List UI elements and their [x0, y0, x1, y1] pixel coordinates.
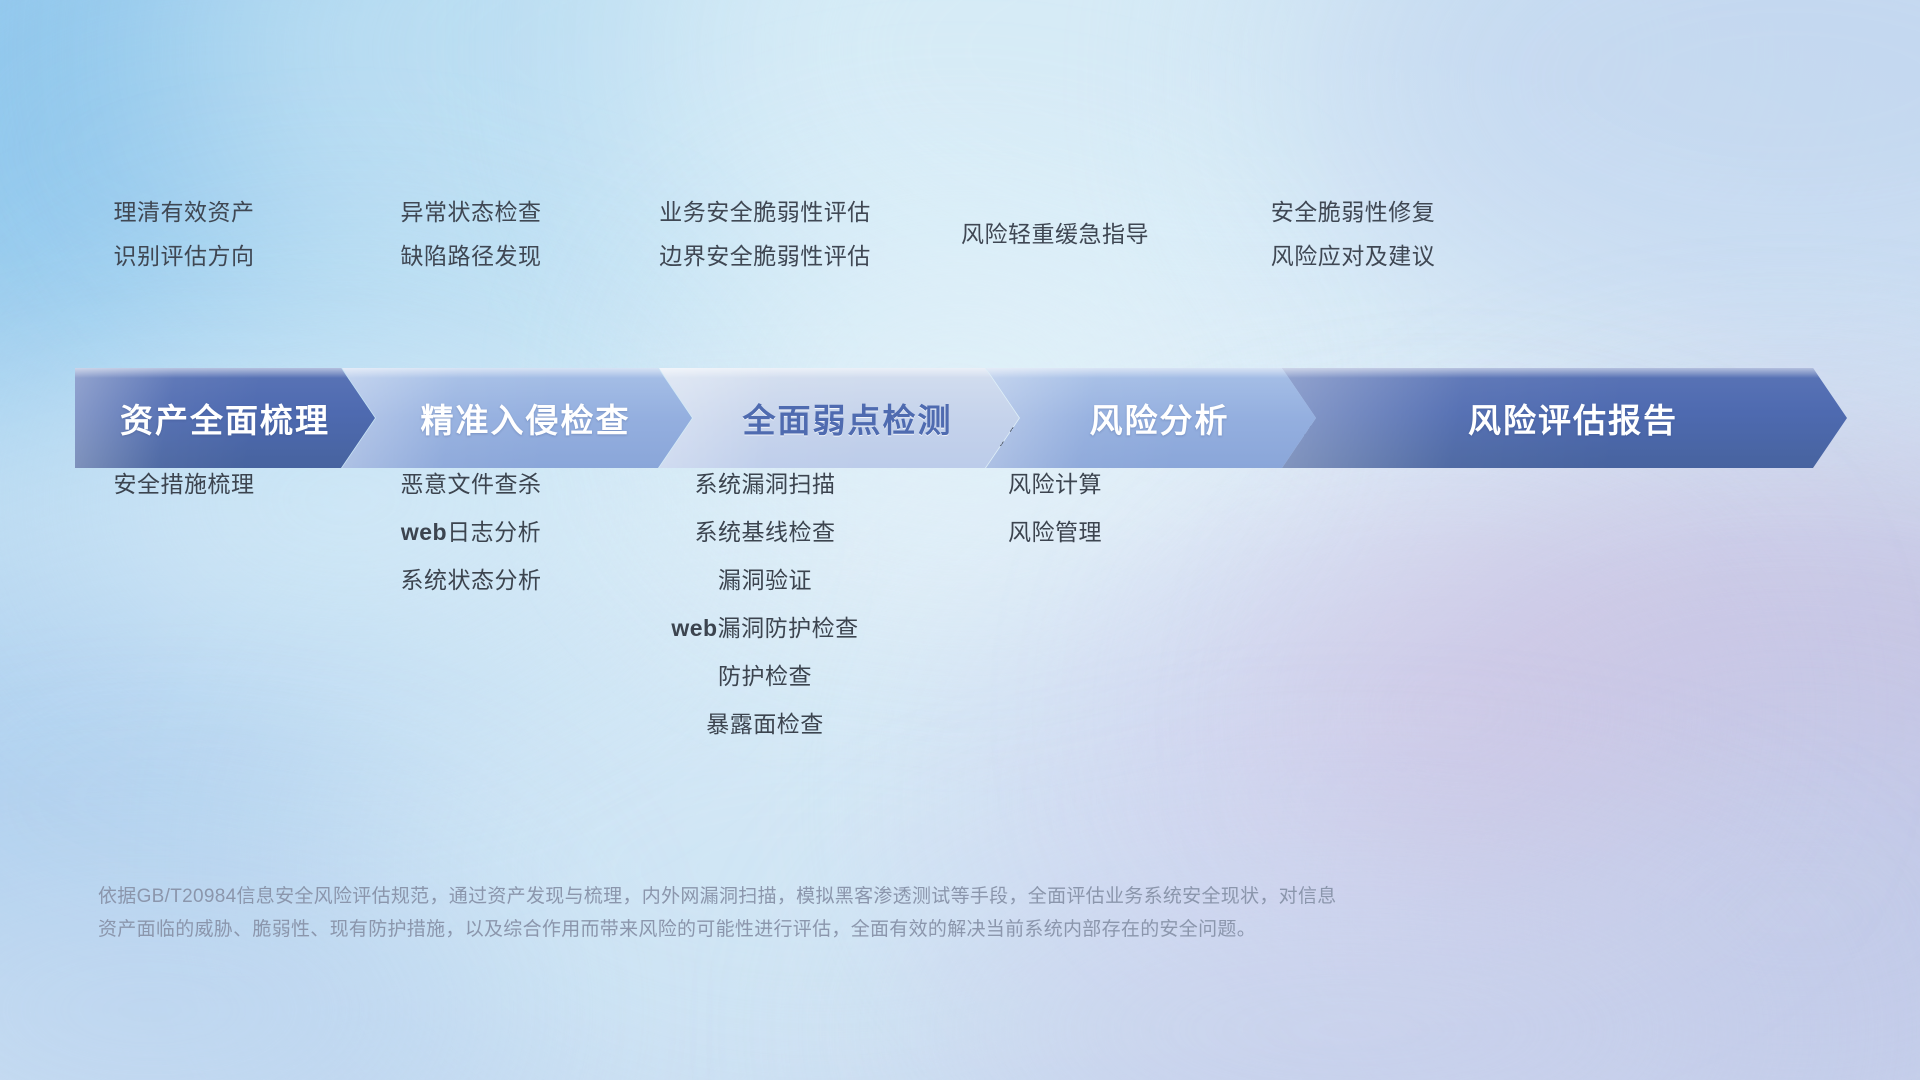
stage-bottom-item-latin: web [401, 519, 447, 545]
chevron-label: 风险评估报告 [1468, 394, 1678, 442]
process-diagram: 理清有效资产识别评估方向 异常状态检查缺陷路径发现 业务安全脆弱性评估边界安全脆… [0, 0, 1920, 1080]
chevron-top-gloss [75, 368, 375, 378]
stage-top-items-risk-report: 安全脆弱性修复风险应对及建议 [1093, 190, 1613, 278]
stage-bottom-item-cjk: 漏洞防护检查 [718, 615, 859, 641]
footer-line: 依据GB/T20984信息安全风险评估规范，通过资产发现与梳理，内外网漏洞扫描，… [98, 880, 1638, 913]
chevron-risk-analysis[interactable]: 风险分析 [986, 368, 1316, 468]
footer-line: 资产面临的威胁、脆弱性、现有防护措施，以及综合作用而带来风险的可能性进行评估，全… [98, 913, 1638, 946]
chevron-weakness-detection[interactable]: 全面弱点检测 [659, 368, 1019, 468]
chevron-top-gloss [986, 368, 1316, 378]
stage-bottom-item: 风险管理 [795, 508, 1315, 556]
stage-bottom-item: 漏洞验证 [505, 556, 1025, 604]
stage-top-item: 风险应对及建议 [1093, 234, 1613, 278]
chevron-asset-inventory[interactable]: 资产全面梳理 [75, 368, 375, 468]
stage-bottom-item: web漏洞防护检查 [505, 604, 1025, 652]
footer-description: 依据GB/T20984信息安全风险评估规范，通过资产发现与梳理，内外网漏洞扫描，… [98, 880, 1638, 946]
stage-top-item: 安全脆弱性修复 [1093, 190, 1613, 234]
chevron-top-gloss [659, 368, 1019, 378]
stage-bottom-item: 暴露面检查 [505, 700, 1025, 748]
chevron-label: 精准入侵检查 [421, 394, 631, 442]
chevron-top-gloss [342, 368, 692, 378]
process-chevron-banner: 资产全面梳理精准入侵检查全面弱点检测风险分析风险评估报告 [75, 368, 1847, 468]
stage-bottom-item: 防护检查 [505, 652, 1025, 700]
chevron-intrusion-check[interactable]: 精准入侵检查 [342, 368, 692, 468]
chevron-label: 风险分析 [1090, 394, 1230, 442]
stage-bottom-item-latin: web [671, 615, 717, 641]
chevron-label: 全面弱点检测 [743, 394, 953, 442]
chevron-risk-report[interactable]: 风险评估报告 [1282, 368, 1847, 468]
chevron-label: 资产全面梳理 [120, 394, 330, 442]
chevron-top-gloss [1282, 368, 1847, 378]
